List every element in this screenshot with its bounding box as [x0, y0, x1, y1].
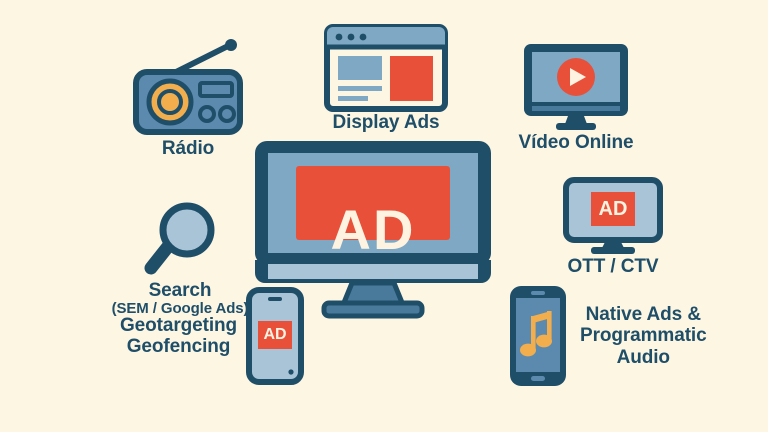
node-ott-ctv-label: OTT / CTV — [568, 256, 659, 277]
monitor-play-icon — [516, 40, 636, 132]
node-display-ads-label: Display Ads — [333, 112, 440, 133]
node-native-ads-label: Native Ads & Programmatic Audio — [580, 304, 707, 368]
infographic-canvas: AD Rádio — [0, 0, 768, 432]
node-radio-label: Rádio — [162, 138, 214, 159]
node-ott-ctv[interactable]: AD OTT / CTV — [552, 176, 674, 277]
node-geotargeting-label: Geotargeting Geofencing — [120, 315, 237, 358]
phone-ad-icon: AD — [245, 286, 305, 386]
node-video-online-label: Vídeo Online — [519, 132, 634, 153]
node-display-ads[interactable]: Display Ads — [312, 24, 460, 133]
phone-music-note-icon — [506, 282, 570, 390]
browser-window-icon — [324, 24, 448, 112]
radio-icon — [128, 38, 248, 138]
node-radio[interactable]: Rádio — [118, 38, 258, 159]
node-video-online[interactable]: Vídeo Online — [500, 40, 652, 153]
tv-ad-icon: AD — [561, 176, 665, 256]
node-geotargeting[interactable]: Geotargeting Geofencing AD — [120, 286, 340, 386]
node-native-ads[interactable]: Native Ads & Programmatic Audio — [506, 282, 754, 390]
magnifying-glass-icon — [132, 200, 228, 280]
